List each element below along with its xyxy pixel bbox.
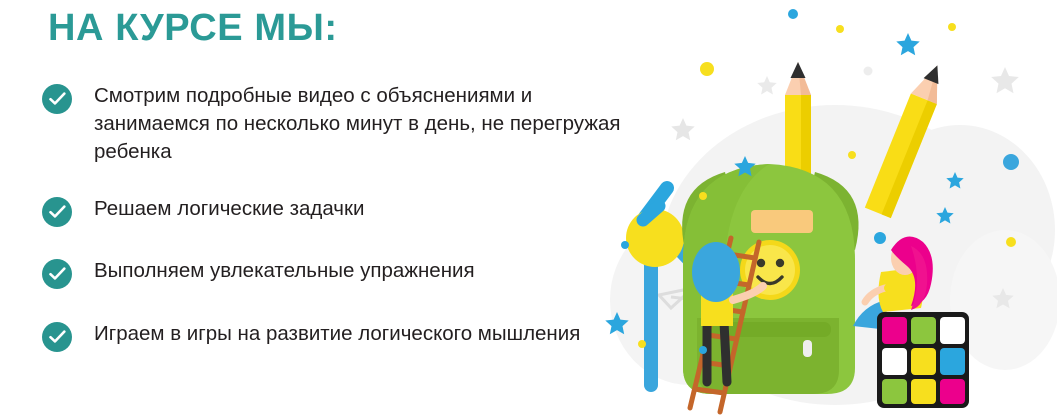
list-item: Смотрим подробные видео с объяснениями и… <box>42 82 642 166</box>
list-item-label: Решаем логические задачки <box>94 195 364 223</box>
check-circle-icon <box>42 322 72 352</box>
benefits-list: Смотрим подробные видео с объяснениями и… <box>42 82 642 352</box>
page-title: НА КУРСЕ МЫ: <box>48 8 338 50</box>
rubiks-cube <box>877 312 969 408</box>
backpack-pencils-kids-illustration <box>585 0 1057 417</box>
list-item: Выполняем увлекательные упражнения <box>42 257 642 289</box>
list-item-label: Смотрим подробные видео с объяснениями и… <box>94 82 642 166</box>
check-circle-icon <box>42 197 72 227</box>
check-circle-icon <box>42 259 72 289</box>
list-item: Играем в игры на развитие логического мы… <box>42 320 642 352</box>
list-item-label: Выполняем увлекательные упражнения <box>94 257 475 285</box>
list-item: Решаем логические задачки <box>42 195 642 227</box>
list-item-label: Играем в игры на развитие логического мы… <box>94 320 580 348</box>
check-circle-icon <box>42 84 72 114</box>
orange-name-tag <box>751 210 813 233</box>
promo-banner: НА КУРСЕ МЫ: Смотрим подробные видео с о… <box>0 0 1057 417</box>
